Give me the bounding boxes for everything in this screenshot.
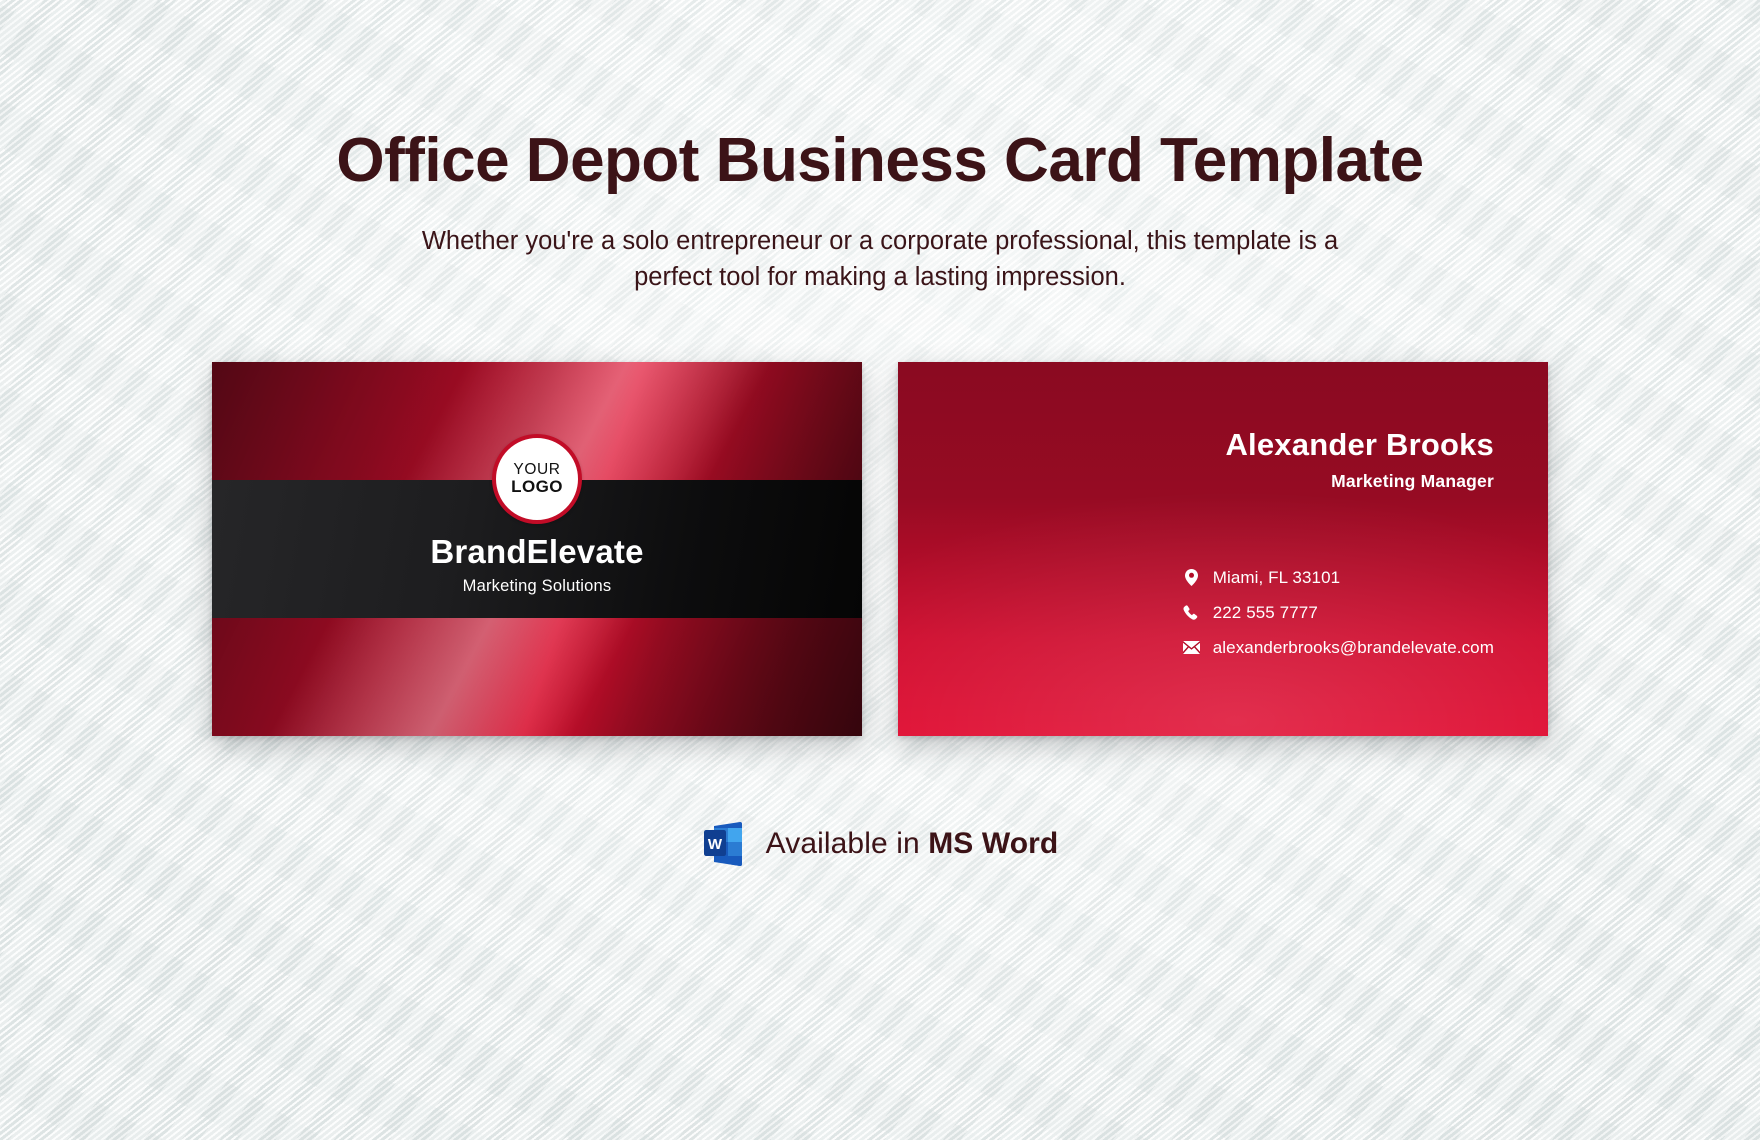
page-root: Office Depot Business Card Template Whet… [0,0,1760,1140]
availability-footer: W Available in MS Word [0,820,1760,868]
page-subtitle-line-2: perfect tool for making a lasting impres… [0,259,1760,295]
page-subtitle-line-1: Whether you're a solo entrepreneur or a … [0,223,1760,259]
contact-row-phone: 222 555 7777 [1183,603,1318,623]
location-pin-icon [1183,569,1200,587]
phone-icon [1183,604,1200,622]
person-job-title: Marketing Manager [1331,471,1494,492]
page-title: Office Depot Business Card Template [0,128,1760,193]
brand-tagline: Marketing Solutions [463,577,612,596]
header: Office Depot Business Card Template Whet… [0,0,1760,296]
contact-text-email: alexanderbrooks@brandelevate.com [1213,638,1494,658]
logo-label-logo: LOGO [511,478,563,497]
availability-label: Available in MS Word [766,827,1059,861]
card-back-glow [898,362,1548,736]
svg-text:W: W [708,836,723,853]
brand-name: BrandElevate [430,535,643,568]
business-card-back[interactable]: Alexander Brooks Marketing Manager Miami… [898,362,1548,736]
contact-row-email: alexanderbrooks@brandelevate.com [1183,638,1494,658]
contact-text-address: Miami, FL 33101 [1213,568,1340,588]
envelope-icon [1183,639,1200,657]
business-card-front[interactable]: BrandElevate Marketing Solutions YOUR LO… [212,362,862,736]
contact-list: Miami, FL 33101 222 555 7777 [1183,568,1494,658]
ms-word-icon: W [702,820,746,868]
contact-text-phone: 222 555 7777 [1213,603,1318,623]
page-subtitle: Whether you're a solo entrepreneur or a … [0,223,1760,295]
business-card-preview-group: BrandElevate Marketing Solutions YOUR LO… [0,362,1760,736]
logo-placeholder-badge[interactable]: YOUR LOGO [492,434,582,524]
logo-label-your: YOUR [513,461,560,478]
contact-row-address: Miami, FL 33101 [1183,568,1340,588]
availability-app-name: MS Word [928,827,1058,860]
person-name: Alexander Brooks [1225,428,1494,462]
availability-prefix: Available in [766,827,929,860]
